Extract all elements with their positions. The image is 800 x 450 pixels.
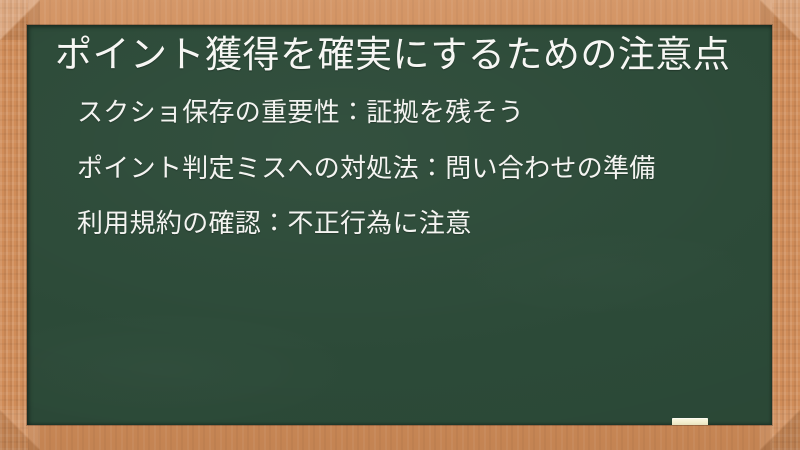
list-item: スクショ保存の重要性：証拠を残そう [77,97,748,128]
chalk-piece-icon [672,418,708,425]
chalkboard-surface: ポイント獲得を確実にするための注意点 スクショ保存の重要性：証拠を残そう ポイン… [27,25,772,425]
blackboard-slide: ポイント獲得を確実にするための注意点 スクショ保存の重要性：証拠を残そう ポイン… [0,0,800,450]
wooden-frame-right-rail [772,0,800,450]
slide-title: ポイント獲得を確実にするための注意点 [51,31,748,79]
list-item: 利用規約の確認：不正行為に注意 [77,208,748,239]
bullet-list: スクショ保存の重要性：証拠を残そう ポイント判定ミスへの対処法：問い合わせの準備… [51,97,748,239]
chalkboard-content: ポイント獲得を確実にするための注意点 スクショ保存の重要性：証拠を残そう ポイン… [27,25,772,425]
list-item: ポイント判定ミスへの対処法：問い合わせの準備 [77,153,748,184]
wooden-frame-left-rail [0,0,28,450]
